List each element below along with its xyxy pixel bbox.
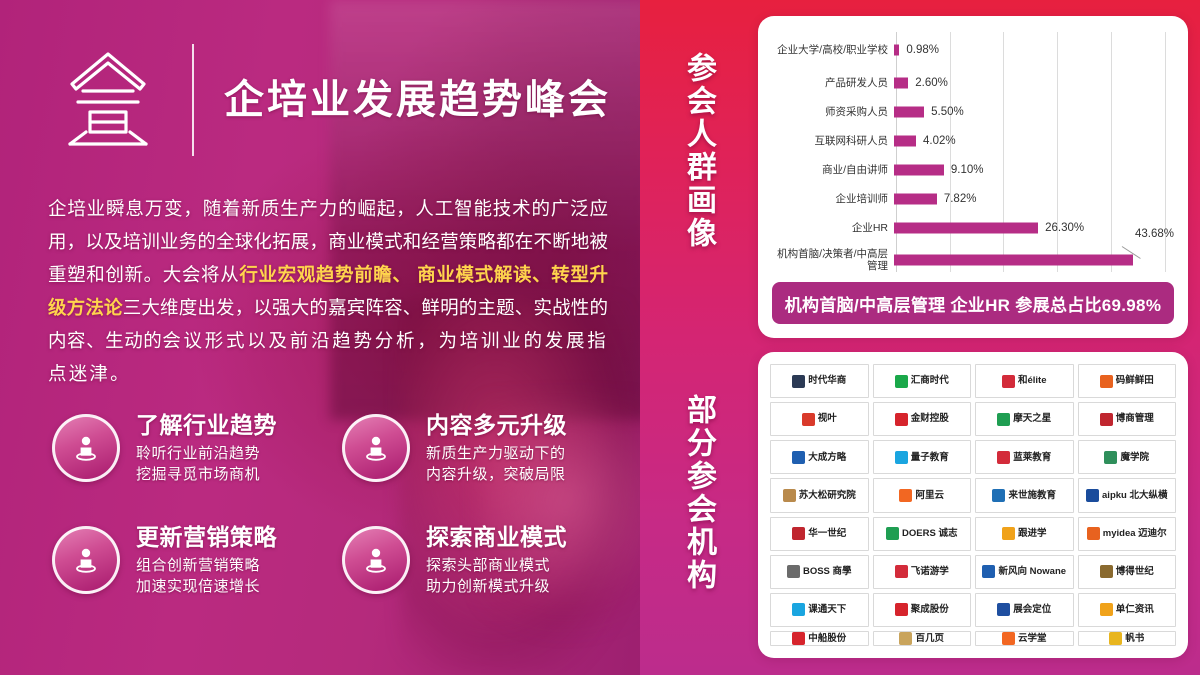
partner-logo-cell: 码鲜鲜田: [1078, 364, 1177, 398]
partner-logo-cell: 帆书: [1078, 631, 1177, 646]
partner-logo-name: 华一世纪: [808, 529, 846, 539]
partner-logo-name: myidea 迈迪尔: [1103, 529, 1167, 539]
partner-logo-cell: DOERS 诚志: [873, 517, 972, 551]
chart-value-label: 9.10%: [951, 164, 984, 176]
hui-logo-icon: [52, 44, 164, 156]
feature-subtitle-line1: 组合创新营销策略: [136, 555, 277, 576]
partner-logo-mark-icon: [1002, 527, 1015, 540]
chart-category-label: 企业HR: [770, 222, 894, 234]
feature-subtitle-line1: 聆听行业前沿趋势: [136, 443, 277, 464]
partner-logo-cell: 课通天下: [770, 593, 869, 627]
chart-bar-row: 商业/自由讲师9.10%: [770, 155, 1176, 184]
audience-bar-chart: 企业大学/高校/职业学校0.98%产品研发人员2.60%师资采购人员5.50%互…: [770, 32, 1176, 272]
partner-logo-cell: 时代华商: [770, 364, 869, 398]
partner-logo-cell: 中船股份: [770, 631, 869, 646]
partner-logo-name: 视叶: [818, 414, 837, 424]
chart-value-label: 5.50%: [931, 106, 964, 118]
chart-value-label: 26.30%: [1045, 222, 1084, 234]
partner-logo-mark-icon: [792, 632, 805, 645]
partner-logo-cell: 博商管理: [1078, 402, 1177, 436]
feature-title: 内容多元升级: [426, 412, 567, 438]
partner-logo-mark-icon: [1100, 413, 1113, 426]
partner-logo-name: 阿里云: [915, 491, 944, 501]
feature-title: 更新营销策略: [136, 524, 277, 550]
chart-plot-area: [894, 242, 1176, 278]
feature-subtitle-line2: 加速实现倍速增长: [136, 576, 277, 597]
partner-logo-mark-icon: [783, 489, 796, 502]
partner-logo-cell: 百几页: [873, 631, 972, 646]
chart-category-label: 产品研发人员: [770, 77, 894, 89]
partner-logo-mark-icon: [1002, 375, 1015, 388]
partner-logo-name: 飞诺游学: [911, 567, 949, 577]
chart-plot-area: 9.10%: [894, 155, 1176, 184]
partner-logo-mark-icon: [1104, 451, 1117, 464]
chart-plot-area: 4.02%: [894, 126, 1176, 155]
partner-logo-name: 课通天下: [808, 605, 846, 615]
partner-logo-name: 量子教育: [911, 453, 949, 463]
partner-logo-cell: 苏大松研究院: [770, 478, 869, 512]
partner-logo-name: 博得世纪: [1116, 567, 1154, 577]
partner-logo-cell: 汇商时代: [873, 364, 972, 398]
partner-logo-cell: aipku 北大纵横: [1078, 478, 1177, 512]
chart-category-label: 互联网科研人员: [770, 135, 894, 147]
person-icon: [52, 414, 120, 482]
partner-logo-name: 博商管理: [1116, 414, 1154, 424]
feature-subtitle-line2: 内容升级，突破局限: [426, 464, 567, 485]
partner-logo-mark-icon: [886, 527, 899, 540]
poster-root: 企培业发展趋势峰会 企培业瞬息万变，随着新质生产力的崛起，人工智能技术的广泛应用…: [0, 0, 1200, 675]
header-divider: [192, 44, 194, 156]
chart-bar: [894, 77, 908, 88]
partner-logo-name: 百几页: [915, 634, 944, 644]
chart-bar-row: 产品研发人员2.60%: [770, 68, 1176, 97]
partner-logo-mark-icon: [982, 565, 995, 578]
feature-title: 探索商业模式: [426, 524, 567, 550]
chart-bar: [894, 135, 916, 146]
partner-logo-mark-icon: [1002, 632, 1015, 645]
partner-logo-name: 单仁资讯: [1116, 605, 1154, 615]
partner-logo-cell: 飞诺游学: [873, 555, 972, 589]
chart-value-label: 2.60%: [915, 77, 948, 89]
chart-annotation-top-value: 43.68%: [1135, 228, 1174, 240]
intro-paragraph: 企培业瞬息万变，随着新质生产力的崛起，人工智能技术的广泛应用，以及培训业务的全球…: [48, 192, 608, 390]
partner-logo-name: 金财控股: [911, 414, 949, 424]
partner-logo-mark-icon: [787, 565, 800, 578]
chart-value-label: 7.82%: [944, 193, 977, 205]
chart-bar-row: 企业大学/高校/职业学校0.98%: [770, 32, 1176, 68]
audience-chart-card: 企业大学/高校/职业学校0.98%产品研发人员2.60%师资采购人员5.50%互…: [758, 16, 1188, 338]
partner-logo-name: aipku 北大纵横: [1102, 491, 1167, 501]
partner-logo-name: 和élite: [1018, 376, 1047, 386]
partner-logo-mark-icon: [895, 565, 908, 578]
partner-logo-mark-icon: [997, 451, 1010, 464]
partner-logo-name: 蓝莱教育: [1013, 453, 1051, 463]
partner-logo-mark-icon: [992, 489, 1005, 502]
partner-logo-mark-icon: [1100, 375, 1113, 388]
feature-subtitle-line2: 助力创新模式升级: [426, 576, 567, 597]
partner-logo-mark-icon: [1087, 527, 1100, 540]
chart-rows: 企业大学/高校/职业学校0.98%产品研发人员2.60%师资采购人员5.50%互…: [770, 32, 1176, 278]
chart-plot-area: 7.82%: [894, 184, 1176, 213]
partner-logo-name: 魔学院: [1120, 453, 1149, 463]
chart-bar-row: 机构首脑/决策者/中高层管理: [770, 242, 1176, 278]
person-icon: [342, 414, 410, 482]
partner-logo-mark-icon: [792, 375, 805, 388]
section-label-audience: 参会人群画像: [662, 52, 720, 312]
chart-bar: [894, 222, 1038, 233]
partner-logo-cell: 新风向 Nowane: [975, 555, 1074, 589]
chart-value-label: 0.98%: [906, 44, 939, 56]
partner-logo-mark-icon: [792, 527, 805, 540]
partner-logo-name: 苏大松研究院: [799, 491, 856, 501]
chart-bar: [894, 164, 944, 175]
partner-logo-cell: 聚成股份: [873, 593, 972, 627]
partner-logo-name: 大成方略: [808, 453, 846, 463]
chart-value-label: 4.02%: [923, 135, 956, 147]
feature-card-3: 更新营销策略 组合创新营销策略 加速实现倍速增长: [52, 522, 342, 634]
partner-logo-cell: 量子教育: [873, 440, 972, 474]
partner-logo-mark-icon: [895, 603, 908, 616]
chart-plot-area: 26.30%: [894, 213, 1176, 242]
chart-plot-area: 5.50%: [894, 97, 1176, 126]
partner-logo-name: DOERS 诚志: [902, 529, 957, 539]
chart-bar: [894, 45, 899, 56]
partner-logo-name: 聚成股份: [911, 605, 949, 615]
chart-bar-row: 企业HR26.30%: [770, 213, 1176, 242]
partner-logo-name: 云学堂: [1018, 634, 1047, 644]
partner-logo-cell: myidea 迈迪尔: [1078, 517, 1177, 551]
partner-logo-cell: 大成方略: [770, 440, 869, 474]
chart-bar: [894, 255, 1133, 266]
chart-bar-row: 互联网科研人员4.02%: [770, 126, 1176, 155]
partner-logo-cell: 单仁资讯: [1078, 593, 1177, 627]
partner-logo-name: 码鲜鲜田: [1116, 376, 1154, 386]
page-title: 企培业发展趋势峰会: [224, 80, 611, 120]
partner-logo-mark-icon: [792, 451, 805, 464]
chart-bar-row: 企业培训师7.82%: [770, 184, 1176, 213]
partner-logo-cell: 阿里云: [873, 478, 972, 512]
partner-logo-cell: 来世施教育: [975, 478, 1074, 512]
partner-logo-mark-icon: [997, 603, 1010, 616]
feature-title: 了解行业趋势: [136, 412, 277, 438]
section-label-organizations: 部分参会机构: [662, 394, 720, 624]
partner-logo-cell: 魔学院: [1078, 440, 1177, 474]
partner-logo-name: 时代华商: [808, 376, 846, 386]
chart-category-label: 师资采购人员: [770, 106, 894, 118]
partner-logo-cell: 和élite: [975, 364, 1074, 398]
partner-logo-name: 帆书: [1125, 634, 1144, 644]
partner-logo-mark-icon: [895, 451, 908, 464]
chart-category-label: 企业培训师: [770, 193, 894, 205]
person-icon: [52, 526, 120, 594]
partner-logo-cell: 博得世纪: [1078, 555, 1177, 589]
partner-logo-mark-icon: [1100, 565, 1113, 578]
chart-category-label: 企业大学/高校/职业学校: [770, 44, 894, 56]
feature-subtitle-line2: 挖掘寻觅市场商机: [136, 464, 277, 485]
partner-logo-cell: 云学堂: [975, 631, 1074, 646]
chart-bar-row: 师资采购人员5.50%: [770, 97, 1176, 126]
partner-logo-mark-icon: [895, 413, 908, 426]
partner-logo-mark-icon: [899, 632, 912, 645]
chart-plot-area: 2.60%: [894, 68, 1176, 97]
feature-card-1: 了解行业趋势 聆听行业前沿趋势 挖掘寻觅市场商机: [52, 410, 342, 522]
partner-logo-grid: 时代华商汇商时代和élite码鲜鲜田视叶金财控股摩天之星博商管理大成方略量子教育…: [770, 364, 1176, 646]
partner-logo-cell: BOSS 商學: [770, 555, 869, 589]
feature-list: 了解行业趋势 聆听行业前沿趋势 挖掘寻觅市场商机 内容多元升级 新质生产力驱动下…: [52, 410, 612, 634]
partner-logo-name: BOSS 商學: [803, 567, 852, 577]
partner-logo-cell: 展会定位: [975, 593, 1074, 627]
partner-logos-card: 时代华商汇商时代和élite码鲜鲜田视叶金财控股摩天之星博商管理大成方略量子教育…: [758, 352, 1188, 658]
partner-logo-mark-icon: [1109, 632, 1122, 645]
chart-category-label: 机构首脑/决策者/中高层管理: [770, 248, 894, 272]
feature-card-2: 内容多元升级 新质生产力驱动下的 内容升级，突破局限: [342, 410, 612, 522]
feature-subtitle-line1: 探索头部商业模式: [426, 555, 567, 576]
partner-logo-mark-icon: [899, 489, 912, 502]
partner-logo-mark-icon: [1086, 489, 1099, 502]
partner-logo-name: 展会定位: [1013, 605, 1051, 615]
partner-logo-name: 来世施教育: [1008, 491, 1056, 501]
partner-logo-name: 汇商时代: [911, 376, 949, 386]
right-panel: 参会人群画像 部分参会机构 企业大学/高校/职业学校0.98%产品研发人员2.6…: [640, 0, 1200, 675]
feature-card-4: 探索商业模式 探索头部商业模式 助力创新模式升级: [342, 522, 612, 634]
partner-logo-cell: 华一世纪: [770, 517, 869, 551]
partner-logo-cell: 金财控股: [873, 402, 972, 436]
feature-subtitle-line1: 新质生产力驱动下的: [426, 443, 567, 464]
chart-bar: [894, 106, 924, 117]
partner-logo-mark-icon: [895, 375, 908, 388]
partner-logo-cell: 视叶: [770, 402, 869, 436]
chart-bar: [894, 193, 937, 204]
partner-logo-cell: 摩天之星: [975, 402, 1074, 436]
chart-category-label: 商业/自由讲师: [770, 164, 894, 176]
poster-header: 企培业发展趋势峰会: [52, 40, 611, 160]
partner-logo-cell: 蓝莱教育: [975, 440, 1074, 474]
partner-logo-mark-icon: [997, 413, 1010, 426]
partner-logo-name: 摩天之星: [1013, 414, 1051, 424]
partner-logo-name: 新风向 Nowane: [998, 567, 1066, 577]
left-panel: 企培业发展趋势峰会 企培业瞬息万变，随着新质生产力的崛起，人工智能技术的广泛应用…: [0, 0, 640, 675]
person-icon: [342, 526, 410, 594]
summary-banner: 机构首脑/中高层管理 企业HR 参展总占比69.98%: [772, 282, 1174, 324]
partner-logo-mark-icon: [802, 413, 815, 426]
partner-logo-mark-icon: [1100, 603, 1113, 616]
partner-logo-name: 跟进学: [1018, 529, 1047, 539]
partner-logo-name: 中船股份: [808, 634, 846, 644]
chart-plot-area: 0.98%: [894, 32, 1176, 68]
partner-logo-mark-icon: [792, 603, 805, 616]
partner-logo-cell: 跟进学: [975, 517, 1074, 551]
